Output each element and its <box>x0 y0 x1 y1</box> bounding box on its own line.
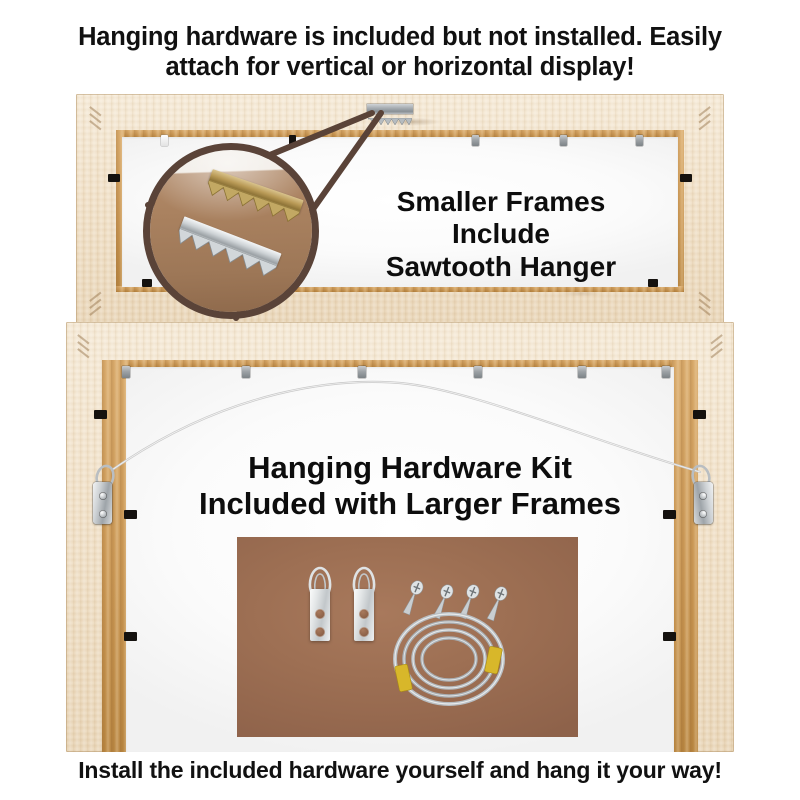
magnifier-circle <box>143 143 319 319</box>
page-title: Hanging hardware is included but not ins… <box>0 22 800 82</box>
smaller-frames-line-1: Smaller Frames <box>336 186 666 218</box>
d-ring-hole <box>359 627 369 637</box>
d-ring-strap-hanger <box>303 565 337 641</box>
d-ring-screw <box>699 492 707 500</box>
corner-vnail-mark <box>696 334 722 360</box>
corner-vnail-mark <box>90 290 116 316</box>
backing-clip <box>693 410 706 419</box>
backing-clip <box>242 366 250 378</box>
d-ring-strap-hanger <box>347 565 381 641</box>
corner-vnail-mark <box>684 290 710 316</box>
corner-vnail-mark <box>684 106 710 132</box>
infographic-canvas: Hanging hardware is included but not ins… <box>0 0 800 800</box>
backing-clip <box>108 174 120 182</box>
d-ring-screw <box>99 492 107 500</box>
backing-clip <box>560 135 567 146</box>
backing-clip <box>662 366 670 378</box>
backing-clip <box>663 632 676 641</box>
backing-clip <box>636 135 643 146</box>
backing-clip <box>122 366 130 378</box>
d-ring-screw <box>99 510 107 518</box>
backing-clip <box>124 632 137 641</box>
corner-vnail-mark <box>78 334 104 360</box>
larger-frames-line-2: Included with Larger Frames <box>120 486 700 522</box>
backing-clip <box>94 410 107 419</box>
footer-caption-line: Install the included hardware yourself a… <box>0 757 800 784</box>
backing-clip <box>474 366 482 378</box>
smaller-frames-line-2: Include <box>336 218 666 250</box>
larger-frames-line-1: Hanging Hardware Kit <box>120 450 700 486</box>
d-ring-screw <box>699 510 707 518</box>
backing-clip <box>680 174 692 182</box>
corner-vnail-mark <box>90 106 116 132</box>
hardware-kit-photo <box>237 537 578 737</box>
d-ring-hole <box>359 609 369 619</box>
headline-line-1: Hanging hardware is included but not ins… <box>0 22 800 52</box>
d-ring-hole <box>315 627 325 637</box>
footer-caption: Install the included hardware yourself a… <box>0 757 800 784</box>
d-ring-hanger-icon <box>88 462 118 524</box>
magnifier-ring <box>143 143 319 319</box>
coiled-hanging-wire <box>389 609 509 709</box>
sawtooth-teeth <box>368 113 412 121</box>
smaller-frames-line-3: Sawtooth Hanger <box>336 251 666 283</box>
headline-line-2: attach for vertical or horizontal displa… <box>0 52 800 82</box>
backing-clip <box>358 366 366 378</box>
d-ring-hole <box>315 609 325 619</box>
smaller-frames-label: Smaller Frames Include Sawtooth Hanger <box>336 186 666 283</box>
larger-frames-label: Hanging Hardware Kit Included with Large… <box>120 450 700 522</box>
backing-clip <box>472 135 479 146</box>
backing-clip <box>578 366 586 378</box>
sawtooth-hanger-icon <box>367 104 413 122</box>
